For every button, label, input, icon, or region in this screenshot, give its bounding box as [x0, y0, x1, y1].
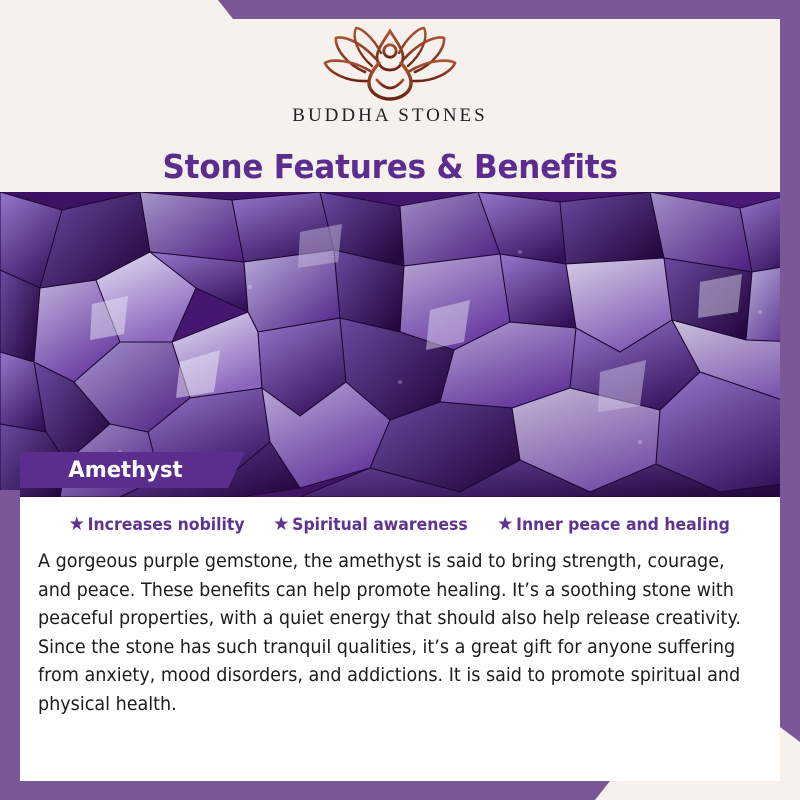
benefit-label: Inner peace and healing: [516, 515, 730, 534]
page-title-band: Stone Features & Benefits: [0, 140, 780, 192]
brand-name: BUDDHA STONES: [292, 105, 487, 127]
benefit-item: ★ Increases nobility: [69, 515, 245, 534]
benefit-item: ★ Spiritual awareness: [273, 515, 468, 534]
benefits-list: ★ Increases nobility ★ Spiritual awarene…: [38, 515, 762, 534]
benefit-label: Increases nobility: [88, 515, 245, 534]
product-info-poster: BUDDHA STONES Stone Features & Benefits: [0, 0, 800, 800]
stone-details-card: ★ Increases nobility ★ Spiritual awarene…: [20, 497, 780, 781]
star-icon: ★: [497, 515, 513, 534]
star-icon: ★: [273, 515, 289, 534]
star-icon: ★: [69, 515, 85, 534]
stone-description: A gorgeous purple gemstone, the amethyst…: [38, 548, 757, 719]
benefit-label: Spiritual awareness: [292, 515, 467, 534]
lotus-meditation-figure-icon: [315, 25, 465, 103]
frame-accent-top: [0, 0, 800, 19]
benefit-item: ★ Inner peace and healing: [497, 515, 730, 534]
amethyst-crystal-cluster-photo: [0, 192, 800, 497]
stone-name-banner: Amethyst: [20, 452, 245, 488]
page-title: Stone Features & Benefits: [162, 147, 617, 186]
brand-header: BUDDHA STONES: [0, 19, 780, 140]
stone-name: Amethyst: [68, 458, 182, 483]
frame-accent-right: [780, 0, 800, 742]
frame-accent-bottom: [0, 781, 800, 800]
frame-accent-left: [0, 490, 20, 800]
